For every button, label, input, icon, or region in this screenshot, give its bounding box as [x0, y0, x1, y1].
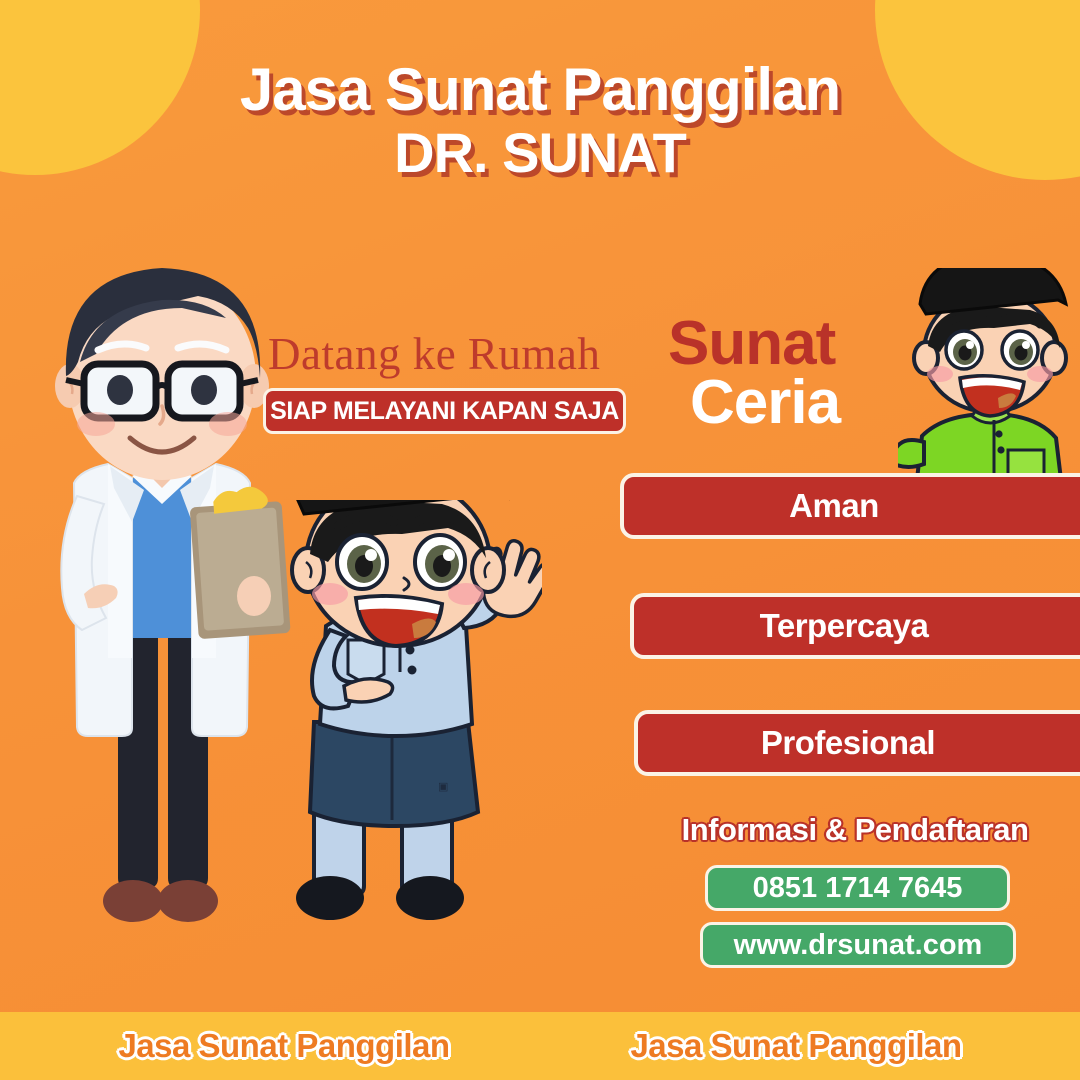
bottom-bar-text-left: Jasa Sunat Panggilan [118, 1027, 449, 1065]
feature-label-aman: Aman [789, 487, 879, 525]
poster-canvas: Jasa Sunat Panggilan DR. SUNAT [0, 0, 1080, 1080]
brand-word-ceria: Ceria [690, 374, 840, 433]
feature-label-terpercaya: Terpercaya [760, 607, 929, 645]
siap-melayani-badge: SIAP MELAYANI KAPAN SAJA [263, 388, 626, 434]
bottom-bar-text-right: Jasa Sunat Panggilan [630, 1027, 961, 1065]
bottom-bar: Jasa Sunat Panggilan Jasa Sunat Panggila… [0, 1012, 1080, 1080]
feature-badge-aman[interactable]: Aman [620, 473, 1080, 539]
phone-number-pill[interactable]: 0851 1714 7645 [705, 865, 1010, 911]
website-pill[interactable]: www.drsunat.com [700, 922, 1016, 968]
headline-line-1: Jasa Sunat Panggilan [0, 58, 1080, 123]
headline-block: Jasa Sunat Panggilan DR. SUNAT [0, 58, 1080, 183]
boy-main-illustration: ▣ [252, 500, 542, 950]
siap-melayani-label: SIAP MELAYANI KAPAN SAJA [270, 397, 619, 426]
feature-badge-profesional[interactable]: Profesional [634, 710, 1080, 776]
brand-word-sunat: Sunat [668, 315, 840, 374]
brand-sunat-ceria: Sunat Ceria [668, 315, 840, 433]
datang-ke-rumah-text: Datang ke Rumah [268, 328, 600, 380]
boy-small-illustration [898, 268, 1080, 488]
phone-number-label: 0851 1714 7645 [753, 872, 963, 905]
headline-line-2: DR. SUNAT [0, 123, 1080, 183]
informasi-pendaftaran-label: Informasi & Pendaftaran [630, 812, 1080, 848]
svg-text:▣: ▣ [438, 781, 448, 793]
website-label: www.drsunat.com [734, 929, 983, 962]
feature-label-profesional: Profesional [761, 724, 935, 762]
feature-badge-terpercaya[interactable]: Terpercaya [630, 593, 1080, 659]
